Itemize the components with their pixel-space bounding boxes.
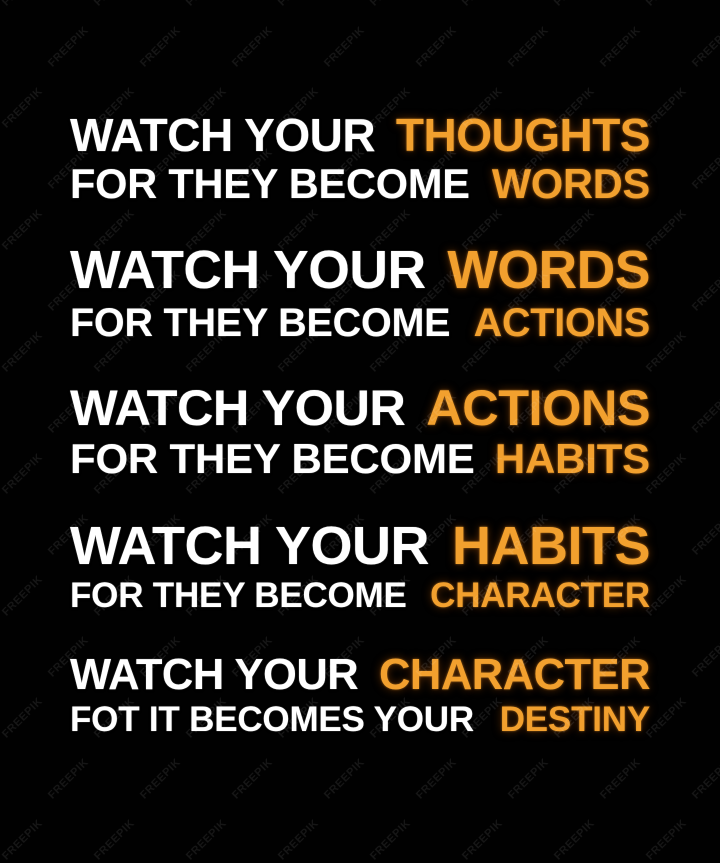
quote-line-bottom: FOR THEY BECOME HABITS bbox=[70, 438, 650, 481]
quote-accent-word: WORDS bbox=[492, 163, 650, 205]
quote-line-top: WATCH YOUR CHARACTER bbox=[70, 653, 650, 697]
quote-block-character: WATCH YOUR CHARACTER FOT IT BECOMES YOUR… bbox=[70, 653, 650, 737]
quote-line-top: WATCH YOUR WORDS bbox=[70, 244, 650, 299]
quote-lead-text: FOT IT BECOMES YOUR bbox=[70, 702, 474, 738]
quote-lead-text: WATCH YOUR bbox=[70, 519, 429, 574]
quote-lead-text: FOR THEY BECOME bbox=[70, 163, 470, 205]
quote-line-spacer bbox=[358, 653, 379, 697]
quote-line-spacer bbox=[405, 382, 426, 434]
quote-line-top: WATCH YOUR ACTIONS bbox=[70, 382, 650, 434]
quote-line-spacer bbox=[375, 112, 396, 159]
quote-poster: FREEPIKFREEPIKFREEPIKFREEPIKFREEPIKFREEP… bbox=[0, 0, 720, 863]
quote-line-spacer bbox=[407, 578, 430, 614]
quote-lead-text: WATCH YOUR bbox=[70, 653, 358, 697]
quote-accent-word: DESTINY bbox=[500, 702, 650, 738]
quote-line-spacer bbox=[470, 163, 492, 205]
quote-lead-text: FOR THEY BECOME bbox=[70, 303, 450, 343]
quote-line-spacer bbox=[474, 702, 500, 738]
quote-accent-word: THOUGHTS bbox=[396, 112, 650, 159]
quote-accent-word: HABITS bbox=[495, 438, 650, 481]
quote-accent-word: ACTIONS bbox=[474, 303, 650, 343]
quote-lead-text: WATCH YOUR bbox=[70, 382, 405, 434]
quote-line-spacer bbox=[429, 519, 452, 574]
quote-line-top: WATCH YOUR THOUGHTS bbox=[70, 112, 650, 159]
quote-block-habits: WATCH YOUR HABITS FOR THEY BECOME CHARAC… bbox=[70, 519, 650, 614]
quote-accent-word: CHARACTER bbox=[379, 653, 650, 697]
quote-line-spacer bbox=[426, 244, 448, 299]
quote-block-thoughts: WATCH YOUR THOUGHTS FOR THEY BECOME WORD… bbox=[70, 112, 650, 205]
quote-line-bottom: FOT IT BECOMES YOUR DESTINY bbox=[70, 702, 650, 738]
quote-lead-text: FOR THEY BECOME bbox=[70, 438, 475, 481]
quote-line-bottom: FOR THEY BECOME CHARACTER bbox=[70, 578, 650, 614]
quote-block-words: WATCH YOUR WORDS FOR THEY BECOME ACTIONS bbox=[70, 244, 650, 343]
quote-line-bottom: FOR THEY BECOME WORDS bbox=[70, 163, 650, 205]
quote-line-top: WATCH YOUR HABITS bbox=[70, 519, 650, 574]
quote-stack: WATCH YOUR THOUGHTS FOR THEY BECOME WORD… bbox=[0, 0, 720, 863]
quote-line-spacer bbox=[475, 438, 495, 481]
quote-lead-text: WATCH YOUR bbox=[70, 244, 426, 299]
quote-accent-word: WORDS bbox=[447, 244, 650, 299]
quote-lead-text: FOR THEY BECOME bbox=[70, 578, 407, 614]
quote-line-spacer bbox=[450, 303, 473, 343]
quote-lead-text: WATCH YOUR bbox=[70, 112, 375, 159]
quote-accent-word: HABITS bbox=[452, 519, 650, 574]
quote-accent-word: CHARACTER bbox=[430, 578, 650, 614]
quote-accent-word: ACTIONS bbox=[426, 382, 650, 434]
quote-block-actions: WATCH YOUR ACTIONS FOR THEY BECOME HABIT… bbox=[70, 382, 650, 480]
quote-line-bottom: FOR THEY BECOME ACTIONS bbox=[70, 303, 650, 343]
